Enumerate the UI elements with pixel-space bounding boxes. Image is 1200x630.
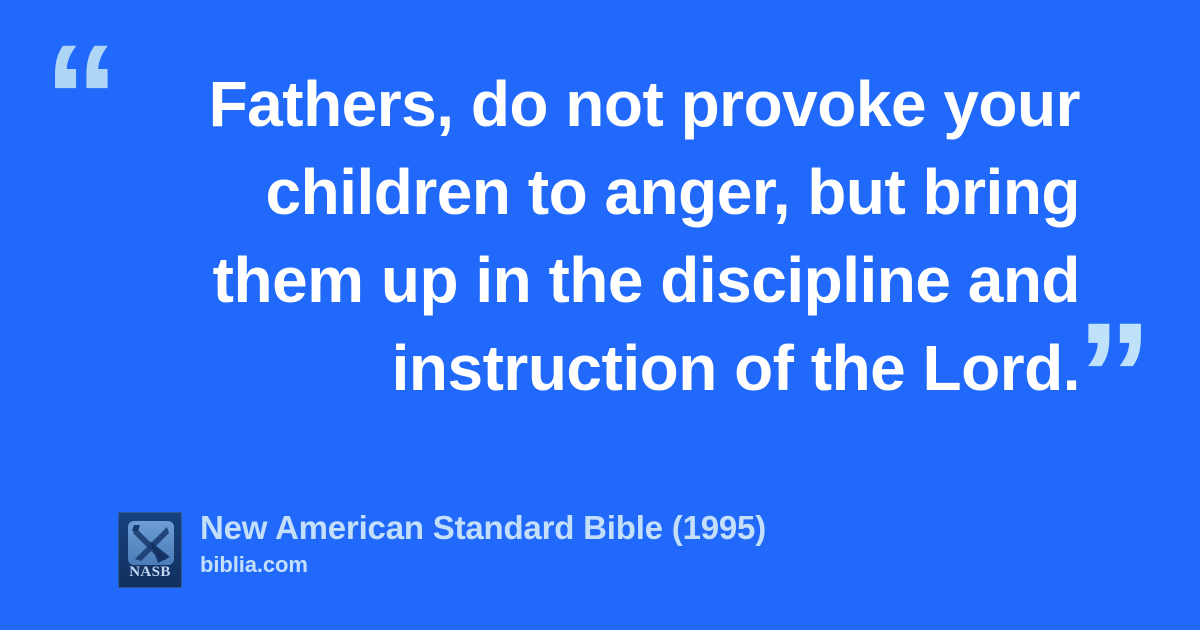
closing-quote-icon: ”	[1077, 300, 1148, 450]
attribution: NASB New American Standard Bible (1995) …	[118, 508, 766, 588]
quote-text: Fathers, do not provoke your children to…	[60, 60, 1080, 412]
quote-line: them up in the discipline and	[60, 236, 1080, 324]
quote-line: instruction of the Lord.	[60, 324, 1080, 412]
quote-card: “ Fathers, do not provoke your children …	[0, 0, 1200, 630]
attribution-text: New American Standard Bible (1995) bibli…	[200, 508, 766, 578]
nasb-crossed-sword-icon	[128, 521, 174, 565]
quote-line: Fathers, do not provoke your	[60, 60, 1080, 148]
quote-line: children to anger, but bring	[60, 148, 1080, 236]
nasb-logo: NASB	[118, 512, 182, 588]
source-title: New American Standard Bible (1995)	[200, 508, 766, 548]
source-site-link[interactable]: biblia.com	[200, 552, 766, 578]
nasb-wordmark: NASB	[119, 565, 181, 580]
